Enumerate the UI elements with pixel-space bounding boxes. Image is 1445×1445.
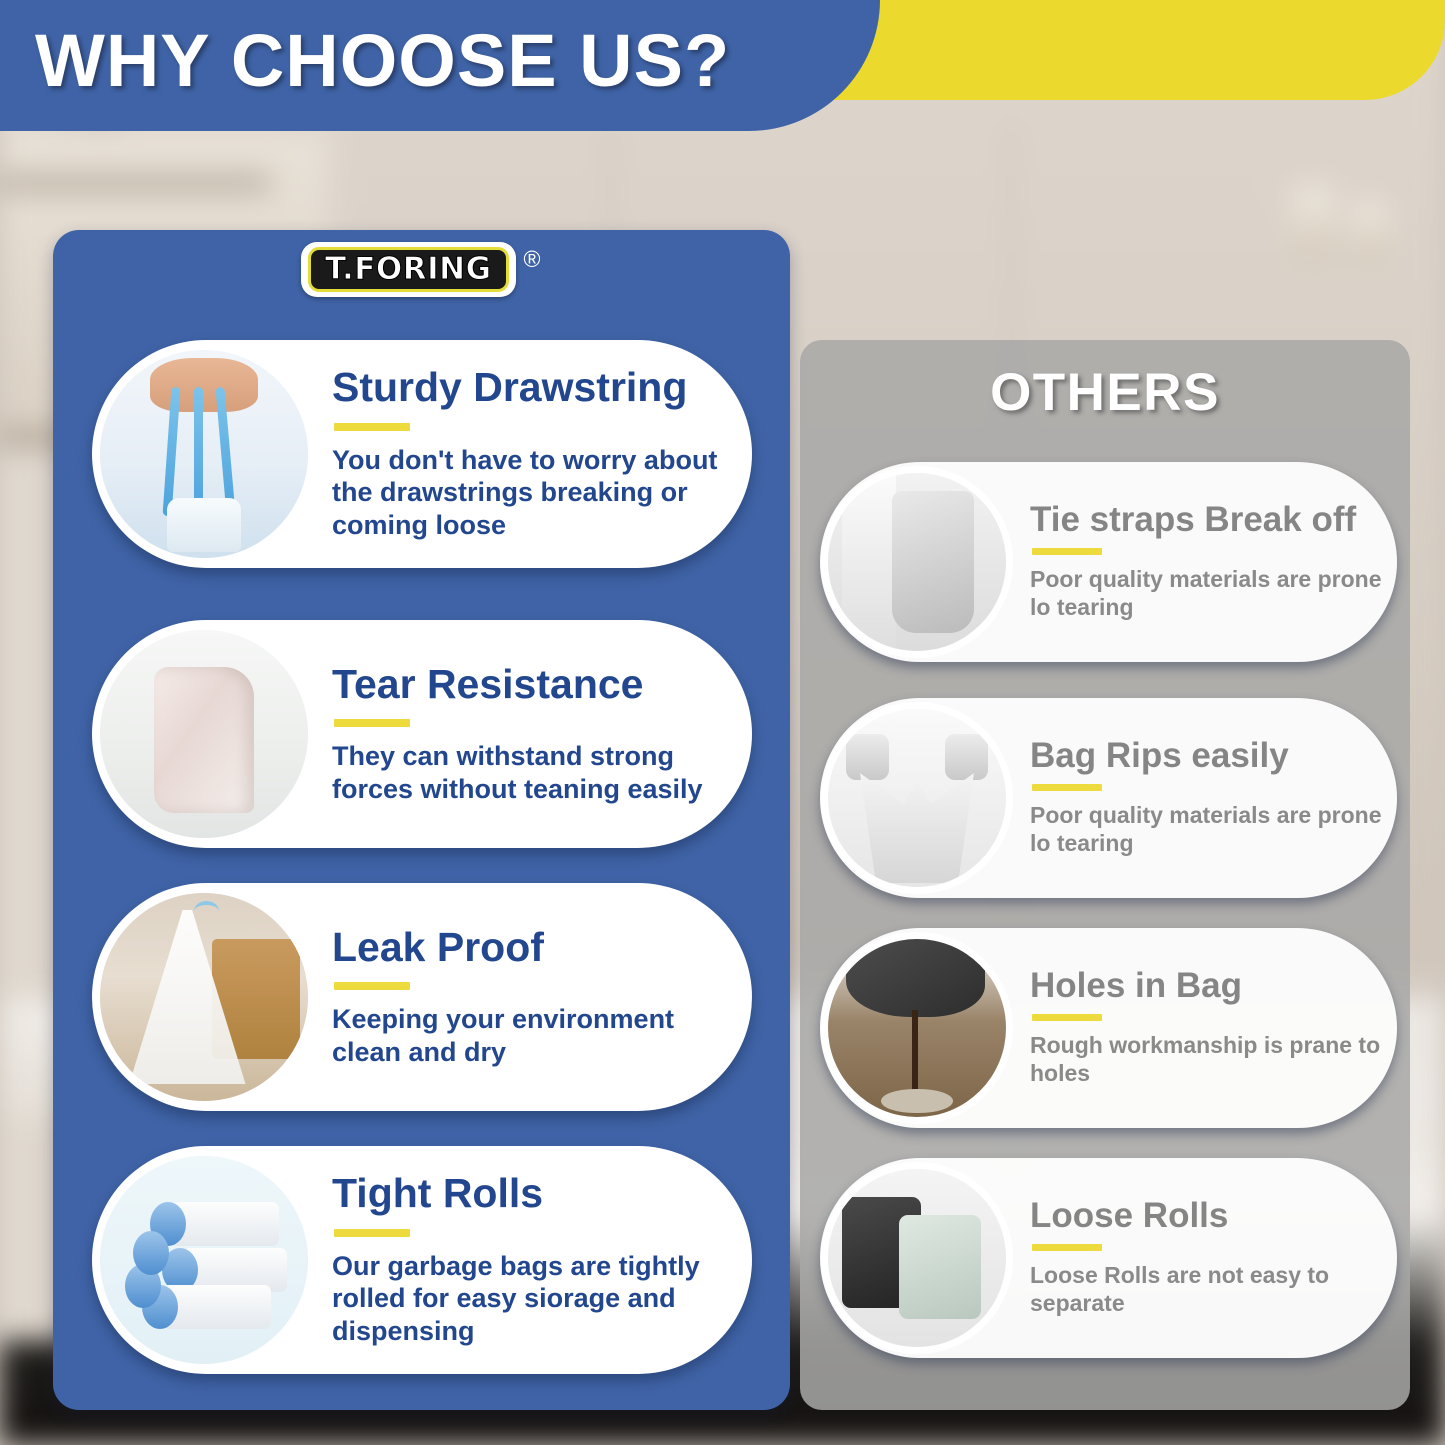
infographic-canvas: WHY CHOOSE US? T.FORING ® Sturdy Drawstr… — [0, 0, 1445, 1445]
others-card-description: Rough workmanship is prane to holes — [1030, 1031, 1383, 1088]
page-title: WHY CHOOSE US? — [35, 18, 730, 103]
feature-card[interactable]: Sturdy Drawstring You don't have to worr… — [92, 340, 752, 568]
others-card-body: Loose Rolls Loose Rolls are not easy to … — [1006, 1198, 1397, 1318]
feature-image-tear-resistance — [100, 630, 308, 838]
feature-card[interactable]: Tear Resistance They can withstand stron… — [92, 620, 752, 848]
others-image-tie-straps-break-off — [828, 473, 1006, 651]
accent-rule — [334, 719, 410, 727]
feature-card-description: Our garbage bags are tightly rolled for … — [332, 1250, 738, 1348]
others-card-description: Poor quality materials are prone lo tear… — [1030, 801, 1383, 858]
feature-card-body: Tight Rolls Our garbage bags are tightly… — [308, 1172, 752, 1347]
logo-plate: T.FORING — [301, 242, 516, 297]
feature-card-body: Tear Resistance They can withstand stron… — [308, 663, 752, 805]
accent-rule — [1032, 548, 1102, 555]
background-jar-1 — [1290, 185, 1336, 261]
others-panel: OTHERS Tie straps Break off Poor quality… — [800, 340, 1410, 1410]
others-card-body: Holes in Bag Rough workmanship is prane … — [1006, 968, 1397, 1088]
others-card[interactable]: Tie straps Break off Poor quality materi… — [820, 462, 1397, 662]
feature-card-title: Tight Rolls — [332, 1172, 738, 1215]
background-jar-2 — [1350, 200, 1390, 262]
feature-image-leak-proof — [100, 893, 308, 1101]
feature-card-title: Leak Proof — [332, 926, 738, 969]
others-card-title: Tie straps Break off — [1030, 502, 1383, 539]
others-card-body: Bag Rips easily Poor quality materials a… — [1006, 738, 1397, 858]
feature-card[interactable]: Leak Proof Keeping your environment clea… — [92, 883, 752, 1111]
others-card[interactable]: Holes in Bag Rough workmanship is prane … — [820, 928, 1397, 1128]
feature-card-description: You don't have to worry about the drawst… — [332, 444, 738, 542]
others-card-title: Loose Rolls — [1030, 1198, 1383, 1235]
accent-rule — [334, 982, 410, 990]
others-card[interactable]: Loose Rolls Loose Rolls are not easy to … — [820, 1158, 1397, 1358]
feature-card-description: They can withstand strong forces without… — [332, 740, 738, 805]
others-card-title: Holes in Bag — [1030, 968, 1383, 1005]
others-card-description: Loose Rolls are not easy to separate — [1030, 1261, 1383, 1318]
feature-card-body: Leak Proof Keeping your environment clea… — [308, 926, 752, 1068]
accent-rule — [1032, 1244, 1102, 1251]
accent-rule — [1032, 784, 1102, 791]
accent-rule — [334, 423, 410, 431]
others-card-title: Bag Rips easily — [1030, 738, 1383, 775]
others-image-holes-in-bag — [828, 939, 1006, 1117]
registered-trademark-icon: ® — [524, 246, 541, 273]
feature-card-title: Sturdy Drawstring — [332, 366, 738, 409]
logo-inner-frame: T.FORING — [308, 247, 509, 292]
feature-card[interactable]: Tight Rolls Our garbage bags are tightly… — [92, 1146, 752, 1374]
accent-rule — [334, 1229, 410, 1237]
feature-card-body: Sturdy Drawstring You don't have to worr… — [308, 366, 752, 541]
others-panel-title: OTHERS — [800, 362, 1410, 423]
others-card[interactable]: Bag Rips easily Poor quality materials a… — [820, 698, 1397, 898]
logo-wordmark: T.FORING — [325, 254, 492, 285]
background-shelf-bar-top — [0, 175, 270, 191]
brand-logo: T.FORING ® — [301, 242, 541, 297]
feature-card-description: Keeping your environment clean and dry — [332, 1003, 738, 1068]
accent-rule — [1032, 1014, 1102, 1021]
others-card-description: Poor quality materials are prone lo tear… — [1030, 565, 1383, 622]
feature-image-tight-rolls — [100, 1156, 308, 1364]
feature-image-sturdy-drawstring — [100, 350, 308, 558]
others-image-bag-rips-easily — [828, 709, 1006, 887]
others-image-loose-rolls — [828, 1169, 1006, 1347]
brand-panel: T.FORING ® Sturdy Drawstring You don't h… — [53, 230, 790, 1410]
feature-card-title: Tear Resistance — [332, 663, 738, 706]
header-blue-banner: WHY CHOOSE US? — [0, 0, 880, 131]
others-card-body: Tie straps Break off Poor quality materi… — [1006, 502, 1397, 622]
